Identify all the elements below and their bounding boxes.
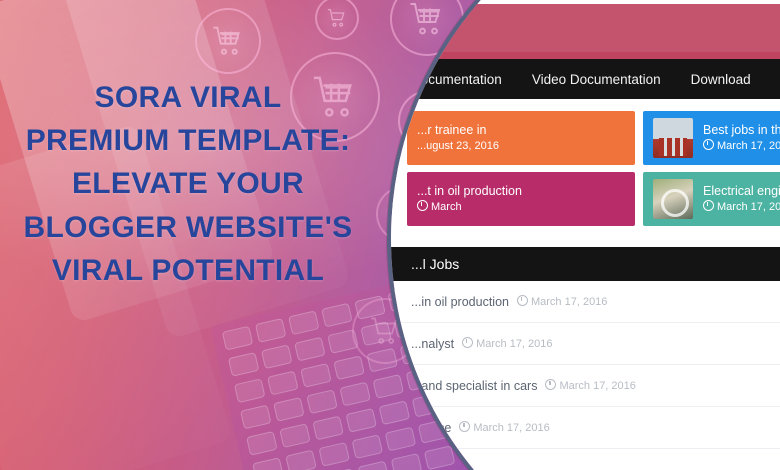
headline-line-1: SORA VIRAL [0, 76, 398, 119]
electrical-panel-thumbnail [653, 179, 693, 219]
job-list: ...in oil production March 17, 2016 ...n… [391, 281, 780, 449]
oil-refinery-thumbnail [653, 118, 693, 158]
nav-item-download[interactable]: Download [691, 72, 751, 87]
clock-icon [517, 295, 528, 306]
feature-card[interactable]: Best jobs in the oil & gas industry Marc… [643, 111, 780, 165]
feature-card-meta: ...ugust 23, 2016 [417, 139, 499, 155]
feature-card-title: Electrical engineer and automation [703, 182, 780, 200]
clock-icon [703, 200, 714, 211]
featured-cards: ...r trainee in ...ugust 23, 2016 Best j… [391, 99, 780, 243]
section-header-jobs: ...l Jobs View all [391, 247, 780, 281]
shopping-cart-icon [195, 8, 261, 74]
clock-icon [703, 139, 714, 150]
feature-card-title: ...r trainee in [417, 121, 499, 139]
job-meta: March 17, 2016 [517, 295, 607, 308]
card-row: ...r trainee in ...ugust 23, 2016 Best j… [407, 111, 780, 165]
feature-card[interactable]: ...t in oil production March [407, 172, 635, 226]
clock-icon [462, 337, 473, 348]
list-item[interactable]: ...nalyst March 17, 2016 [391, 323, 780, 365]
headline: SORA VIRAL PREMIUM TEMPLATE: ELEVATE YOU… [0, 76, 398, 292]
feature-card-meta: March [417, 200, 522, 216]
clock-icon [459, 421, 470, 432]
nav-item-video-documentation[interactable]: Video Documentation [532, 72, 661, 87]
feature-card-title: Best jobs in the oil & gas industry [703, 121, 780, 139]
list-item[interactable]: ...and specialist in cars March 17, 2016 [391, 365, 780, 407]
headline-line-4: BLOGGER WEBSITE'S [0, 206, 398, 249]
job-title: ...and specialist in cars [411, 379, 537, 393]
clock-icon [417, 200, 428, 211]
job-title: ...ience [411, 421, 451, 435]
card-row: ...t in oil production March Electrical … [407, 172, 780, 226]
feature-card[interactable]: ...r trainee in ...ugust 23, 2016 [407, 111, 635, 165]
nav-item-documentation[interactable]: Documentation [411, 72, 502, 87]
job-meta: March 17, 2016 [545, 379, 635, 392]
headline-line-2: PREMIUM TEMPLATE: [0, 119, 398, 162]
feature-card-meta: March 17, 2016 [703, 139, 780, 155]
list-item[interactable]: ...ience March 17, 2016 [391, 407, 780, 449]
headline-line-5: VIRAL POTENTIAL [0, 249, 398, 292]
section-title: ...l Jobs [411, 256, 459, 272]
list-item[interactable]: ...in oil production March 17, 2016 [391, 281, 780, 323]
job-title: ...nalyst [411, 337, 454, 351]
ad-banner: 728x90 [391, 4, 780, 59]
job-meta: March 17, 2016 [462, 337, 552, 350]
feature-card[interactable]: Electrical engineer and automation March… [643, 172, 780, 226]
feature-card-meta: March 17, 2016 [703, 200, 780, 216]
job-title: ...in oil production [411, 295, 509, 309]
website-preview-circle: 728x90 Documentation Video Documentation… [387, 0, 780, 470]
thumbnail-canvas: SORA VIRAL PREMIUM TEMPLATE: ELEVATE YOU… [0, 0, 780, 470]
site-navbar: Documentation Video Documentation Downlo… [391, 59, 780, 99]
clock-icon [545, 379, 556, 390]
website-preview: 728x90 Documentation Video Documentation… [391, 0, 780, 470]
headline-line-3: ELEVATE YOUR [0, 162, 398, 205]
job-meta: March 17, 2016 [459, 421, 549, 434]
feature-card-title: ...t in oil production [417, 182, 522, 200]
